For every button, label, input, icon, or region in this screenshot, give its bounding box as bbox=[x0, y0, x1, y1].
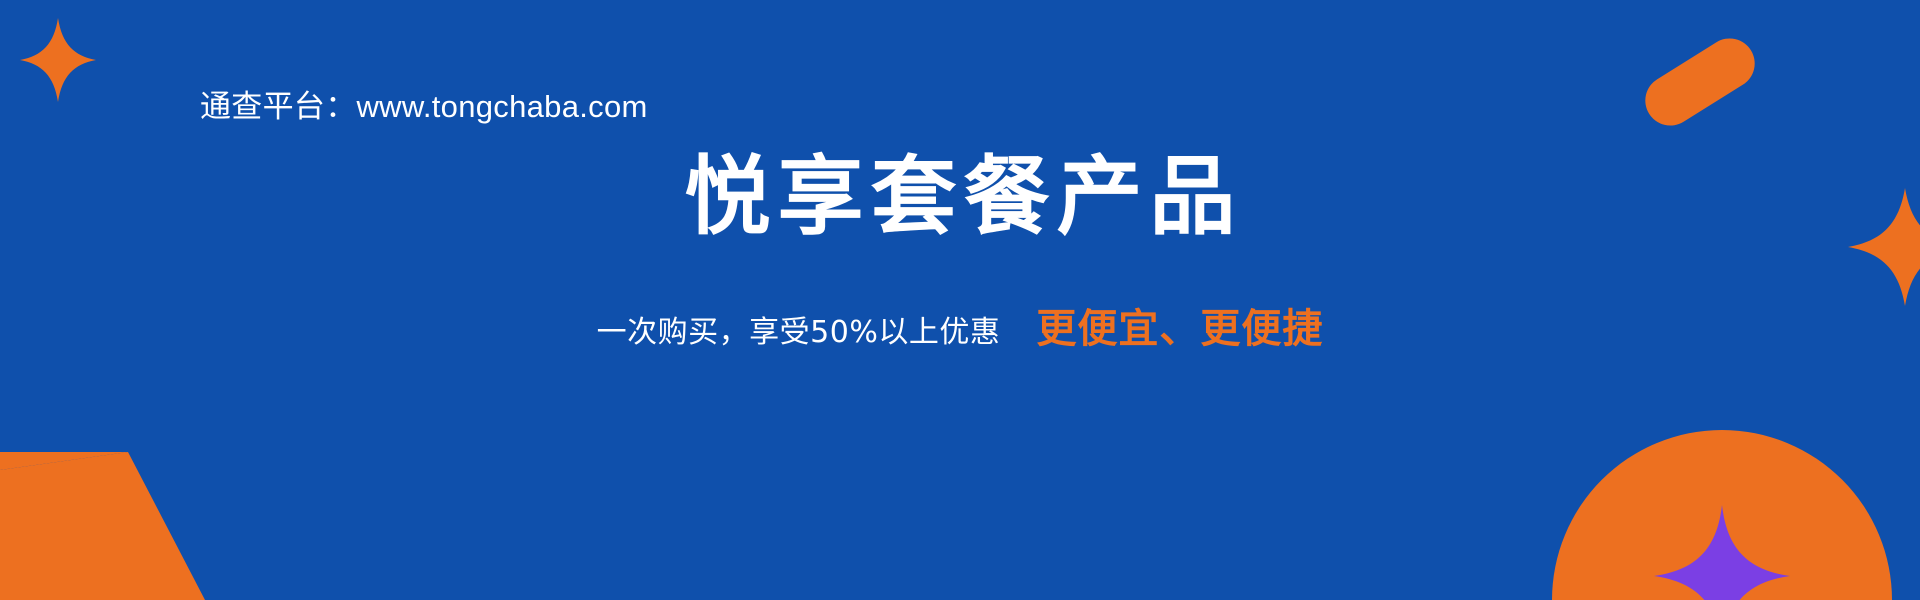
subtitle-accent-text: 更便宜、更便捷 bbox=[1036, 296, 1323, 354]
platform-label: 通查平台： bbox=[200, 89, 357, 125]
promo-banner: 通查平台：www.tongchaba.com 悦享套餐产品 一次购买，享受50%… bbox=[0, 0, 1920, 600]
subtitle-row: 一次购买，享受50%以上优惠 更便宜、更便捷 bbox=[0, 296, 1920, 354]
platform-line: 通查平台：www.tongchaba.com bbox=[200, 88, 648, 126]
platform-url: www.tongchaba.com bbox=[357, 89, 648, 124]
page-title: 悦享套餐产品 bbox=[0, 152, 1920, 242]
banner-content: 通查平台：www.tongchaba.com 悦享套餐产品 一次购买，享受50%… bbox=[0, 0, 1920, 600]
subtitle-plain-text: 一次购买，享受50%以上优惠 bbox=[597, 307, 1001, 351]
